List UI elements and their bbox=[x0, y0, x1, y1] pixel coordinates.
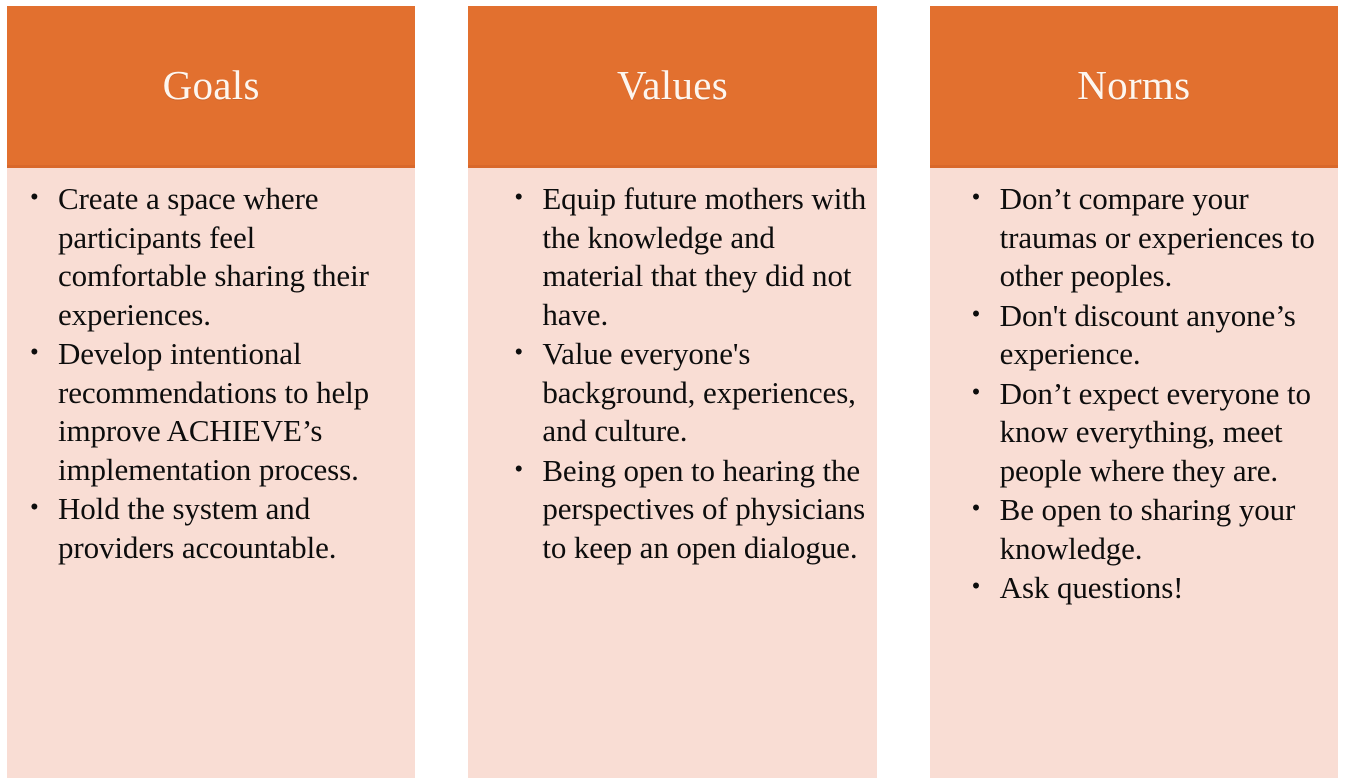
column-body-norms: Don’t compare your traumas or experience… bbox=[930, 168, 1338, 778]
column-body-values: Equip future mothers with the knowledge … bbox=[468, 168, 876, 778]
bullet-list-norms: Don’t compare your traumas or experience… bbox=[964, 180, 1328, 608]
column-title-goals: Goals bbox=[163, 65, 260, 106]
list-item: Value everyone's background, experiences… bbox=[506, 335, 866, 451]
column-values: Values Equip future mothers with the kno… bbox=[468, 6, 876, 778]
column-goals: Goals Create a space where participants … bbox=[7, 6, 415, 778]
column-norms: Norms Don’t compare your traumas or expe… bbox=[930, 6, 1338, 778]
list-item: Create a space where participants feel c… bbox=[22, 180, 397, 334]
bullet-list-values: Equip future mothers with the knowledge … bbox=[506, 180, 866, 567]
column-title-norms: Norms bbox=[1077, 65, 1190, 106]
column-header-norms: Norms bbox=[930, 6, 1338, 168]
list-item: Being open to hearing the perspectives o… bbox=[506, 452, 866, 568]
column-body-goals: Create a space where participants feel c… bbox=[7, 168, 415, 778]
column-header-goals: Goals bbox=[7, 6, 415, 168]
list-item: Ask questions! bbox=[964, 569, 1328, 608]
column-header-values: Values bbox=[468, 6, 876, 168]
three-column-board: Goals Create a space where participants … bbox=[0, 0, 1345, 784]
bullet-list-goals: Create a space where participants feel c… bbox=[22, 180, 397, 567]
list-item: Hold the system and providers accountabl… bbox=[22, 490, 397, 567]
list-item: Don’t compare your traumas or experience… bbox=[964, 180, 1328, 296]
list-item: Be open to sharing your knowledge. bbox=[964, 491, 1328, 568]
column-title-values: Values bbox=[617, 65, 728, 106]
list-item: Develop intentional recommendations to h… bbox=[22, 335, 397, 489]
list-item: Don’t expect everyone to know everything… bbox=[964, 375, 1328, 491]
list-item: Don't discount anyone’s experience. bbox=[964, 297, 1328, 374]
list-item: Equip future mothers with the knowledge … bbox=[506, 180, 866, 334]
